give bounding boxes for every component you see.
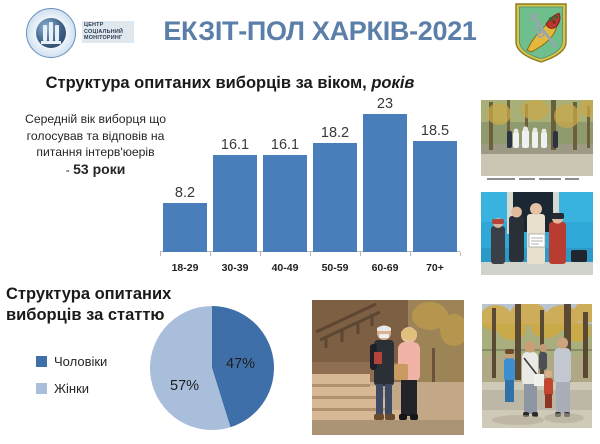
- bar-value-label: 16.1: [271, 137, 299, 153]
- avg-note-line-3: питання інтерв'юерів: [36, 145, 154, 159]
- photo-group-svg: [481, 192, 593, 275]
- avg-note-dash: -: [66, 163, 73, 177]
- logo-base-icon: [41, 41, 61, 44]
- bar-column: 18.5: [410, 123, 460, 252]
- bar-rect[interactable]: [263, 155, 307, 252]
- legend-label: Жінки: [54, 381, 89, 396]
- x-axis-tick: [410, 252, 411, 256]
- average-age-note: Середній вік виборця що голосував та від…: [8, 111, 183, 178]
- legend-swatch-icon: [36, 356, 47, 367]
- logo-line-2: СОЦІАЛЬНИЙ: [84, 29, 132, 36]
- photo-interviewer-on-steps: [312, 300, 464, 435]
- bar-plot-area: 8.218-2916.130-3916.140-4918.250-592360-…: [160, 94, 460, 280]
- bar-column: 18.2: [310, 125, 360, 252]
- legend-item[interactable]: Чоловіки: [36, 354, 107, 369]
- bar-rect[interactable]: [163, 203, 207, 252]
- bar-column: 23: [360, 96, 410, 252]
- x-axis-tick: [210, 252, 211, 256]
- bar-value-label: 8.2: [175, 185, 195, 201]
- sex-chart-title-line-1: Структура опитаних: [6, 285, 171, 303]
- bar-value-label: 23: [377, 96, 393, 112]
- age-chart-title: Структура опитаних виборців за віком, ро…: [0, 74, 460, 93]
- pie-svg: [148, 304, 276, 432]
- bar-column: 8.2: [160, 185, 210, 252]
- photo-hazmat-svg: [481, 100, 593, 183]
- legend-swatch-icon: [36, 383, 47, 394]
- age-structure-chart: Структура опитаних виборців за віком, ро…: [0, 68, 470, 280]
- x-axis-category-label: 40-49: [260, 262, 310, 274]
- x-axis-category-label: 50-59: [310, 262, 360, 274]
- avg-note-line-2: голосував та відповів на: [27, 129, 165, 143]
- slide-canvas: ЦЕНТР СОЦІАЛЬНИЙ МОНІТОРИНГ ЕКЗІТ-ПОЛ ХА…: [0, 0, 600, 444]
- bar-rect[interactable]: [313, 143, 357, 252]
- slide-header: ЦЕНТР СОЦІАЛЬНИЙ МОНІТОРИНГ ЕКЗІТ-ПОЛ ХА…: [0, 0, 600, 66]
- bar-rect[interactable]: [363, 114, 407, 252]
- bar-rect[interactable]: [413, 141, 457, 252]
- logo-wordmark: ЦЕНТР СОЦІАЛЬНИЙ МОНІТОРИНГ: [82, 21, 134, 43]
- legend-item[interactable]: Жінки: [36, 381, 107, 396]
- logo-pillar-icon: [55, 25, 59, 41]
- avg-note-line-1: Середній вік виборця що: [25, 112, 166, 126]
- photo-hazmat-workers-alley: [481, 100, 593, 183]
- bar-column: 16.1: [210, 137, 260, 252]
- bar-rect[interactable]: [213, 155, 257, 252]
- age-chart-title-main: Структура опитаних виборців за віком,: [46, 74, 367, 92]
- avg-note-value: 53 роки: [73, 161, 125, 177]
- pie-legend: ЧоловікиЖінки: [36, 354, 107, 408]
- organization-logo: ЦЕНТР СОЦІАЛЬНИЙ МОНІТОРИНГ: [8, 6, 128, 58]
- bar-value-label: 18.5: [421, 123, 449, 139]
- logo-pillar-icon: [43, 25, 47, 41]
- x-axis-category-label: 70+: [410, 262, 460, 274]
- logo-pillar-icon: [49, 22, 53, 41]
- bar-value-label: 16.1: [221, 137, 249, 153]
- sex-chart-title-line-2: виборців за статтю: [6, 306, 165, 324]
- x-axis-category-label: 18-29: [160, 262, 210, 274]
- bar-value-label: 18.2: [321, 125, 349, 141]
- age-chart-title-italic: років: [371, 74, 414, 92]
- x-axis-tick: [360, 252, 361, 256]
- x-axis-category-label: 30-39: [210, 262, 260, 274]
- logo-line-1: ЦЕНТР: [84, 22, 132, 29]
- bar-column: 16.1: [260, 137, 310, 252]
- x-axis-category-label: 60-69: [360, 262, 410, 274]
- pie-percent-label: 57%: [170, 378, 199, 394]
- x-axis-tick: [160, 252, 161, 256]
- crest-svg: [513, 2, 569, 64]
- x-axis-tick: [260, 252, 261, 256]
- photo-group-with-certificate: [481, 192, 593, 275]
- sex-structure-chart: Структура опитаних виборців за статтю Чо…: [0, 282, 300, 444]
- photo-street-svg: [312, 300, 464, 435]
- legend-label: Чоловіки: [54, 354, 107, 369]
- page-title: ЕКЗІТ-ПОЛ ХАРКІВ-2021: [140, 14, 500, 48]
- pie-percent-label: 47%: [226, 356, 255, 372]
- logo-line-3: МОНІТОРИНГ: [84, 35, 132, 42]
- x-axis-tick: [310, 252, 311, 256]
- photo-park-svg: [482, 304, 592, 428]
- pie-plot-area: 47%57%: [148, 304, 276, 432]
- photo-voters-walking-park: [482, 304, 592, 428]
- x-axis-tick: [460, 252, 461, 256]
- kharkiv-coat-of-arms-icon: [513, 2, 569, 64]
